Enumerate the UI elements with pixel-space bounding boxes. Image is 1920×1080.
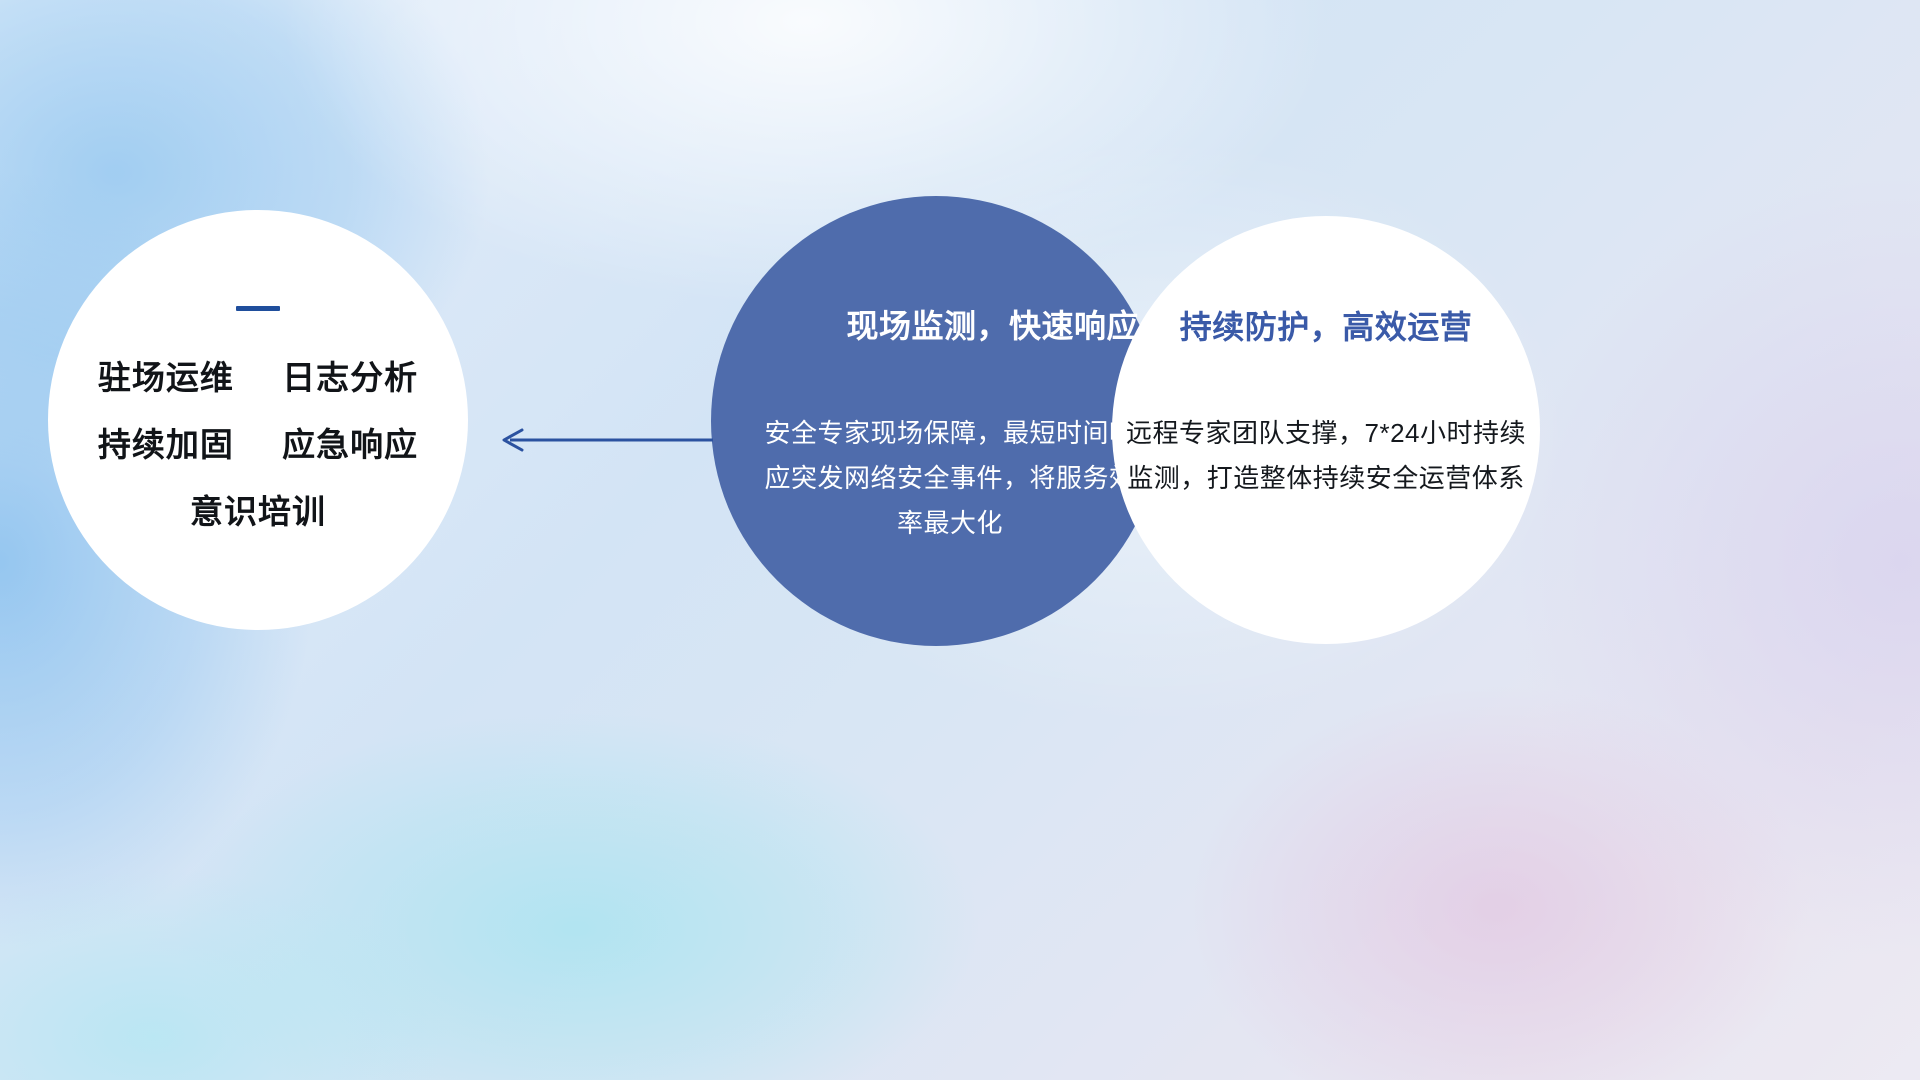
divider-dash <box>236 306 280 311</box>
left-circle-content: 驻场运维 日志分析 持续加固 应急响应 意识培训 <box>48 210 468 630</box>
service-item-3a: 意识培训 <box>190 493 326 530</box>
service-item-2b: 应急响应 <box>282 426 418 463</box>
arrow-icon <box>498 426 713 454</box>
right-circle-content: 持续防护，高效运营 远程专家团队支撑，7*24小时持续监测，打造整体持续安全运营… <box>1112 216 1540 644</box>
slide-canvas: 驻场运维 日志分析 持续加固 应急响应 意识培训 现场监测，快速响应 安全专家现… <box>0 0 1920 1080</box>
right-circle-body: 远程专家团队支撑，7*24小时持续监测，打造整体持续安全运营体系 <box>1122 411 1530 501</box>
middle-circle-body: 安全专家现场保障，最短时间响应突发网络安全事件，将服务效率最大化 <box>757 411 1143 546</box>
service-line-3: 意识培训 <box>190 495 326 528</box>
service-item-1a: 驻场运维 <box>98 359 234 396</box>
service-line-2: 持续加固 应急响应 <box>98 428 418 461</box>
service-item-1b: 日志分析 <box>282 359 418 396</box>
middle-circle-title: 现场监测，快速响应 <box>711 301 1161 347</box>
service-item-2a: 持续加固 <box>98 426 234 463</box>
left-pointing-arrow <box>498 426 713 454</box>
service-line-1: 驻场运维 日志分析 <box>98 361 418 394</box>
middle-circle-content: 现场监测，快速响应 安全专家现场保障，最短时间响应突发网络安全事件，将服务效率最… <box>711 196 1161 646</box>
right-circle-title: 持续防护，高效运营 <box>1112 302 1540 348</box>
